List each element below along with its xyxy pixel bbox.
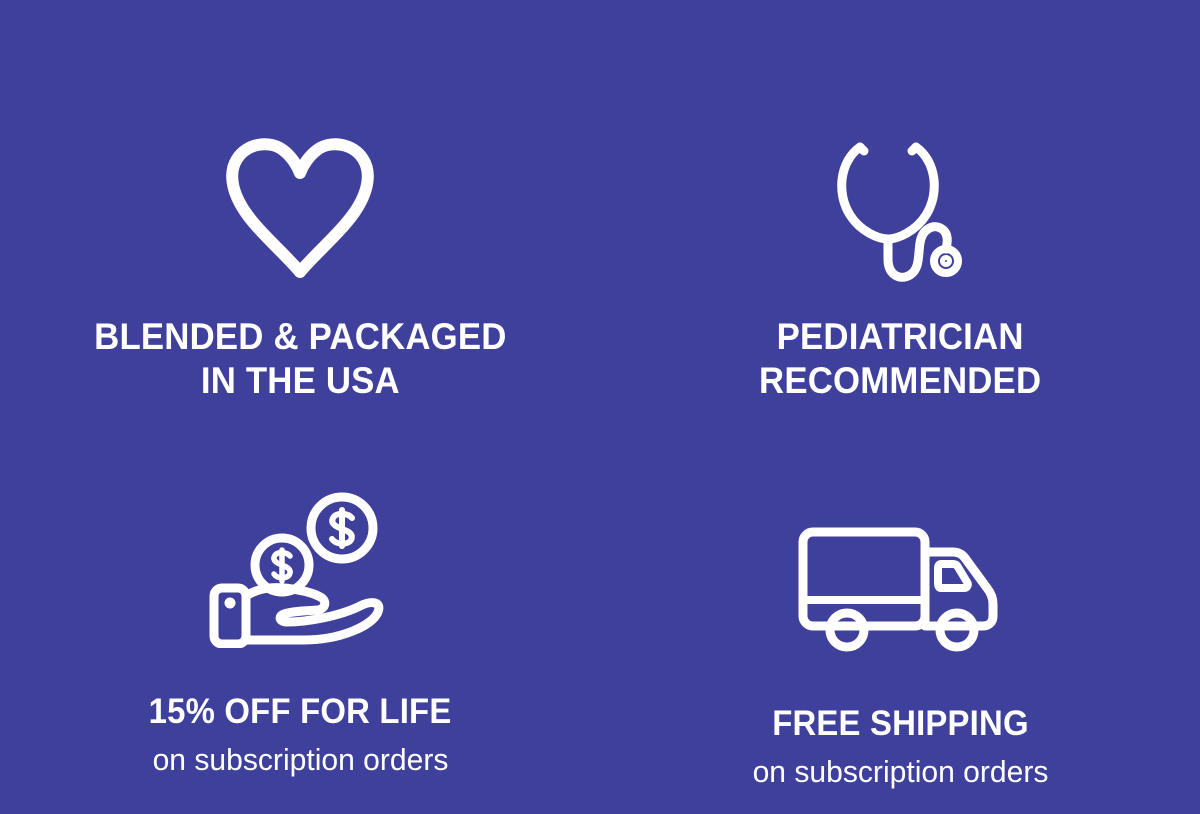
icon-container: [795, 460, 1005, 660]
value-prop-grid: BLENDED & PACKAGED IN THE USA: [0, 0, 1200, 814]
icon-container: [220, 88, 380, 279]
card-subline: on subscription orders: [752, 753, 1048, 790]
icon-container: [200, 448, 400, 648]
value-prop-card-free-shipping: FREE SHIPPING on subscription orders: [600, 410, 1200, 814]
card-headline: 15% OFF FOR LIFE: [149, 692, 452, 733]
delivery-truck-icon: [795, 520, 1005, 660]
hand-holding-coins-icon: [200, 488, 400, 648]
value-prop-card-pediatrician-recommended: PEDIATRICIAN RECOMMENDED: [600, 0, 1200, 410]
card-headline: BLENDED & PACKAGED IN THE USA: [94, 315, 506, 402]
icon-container: [830, 100, 970, 285]
truck-cargo-box: [803, 532, 925, 626]
value-prop-card-blended-packaged-usa: BLENDED & PACKAGED IN THE USA: [0, 0, 600, 410]
card-subline: on subscription orders: [152, 741, 448, 778]
cuff-button: [225, 598, 236, 609]
value-prop-banner: BLENDED & PACKAGED IN THE USA: [0, 0, 1200, 814]
wrist-cuff: [214, 588, 246, 644]
card-headline: FREE SHIPPING: [772, 704, 1029, 745]
stethoscope-icon: [830, 135, 970, 285]
open-hand: [246, 588, 379, 640]
heart-icon: [220, 129, 380, 279]
value-prop-card-discount-for-life: 15% OFF FOR LIFE on subscription orders: [0, 410, 600, 814]
truck-window: [938, 564, 968, 588]
card-headline: PEDIATRICIAN RECOMMENDED: [759, 315, 1041, 402]
